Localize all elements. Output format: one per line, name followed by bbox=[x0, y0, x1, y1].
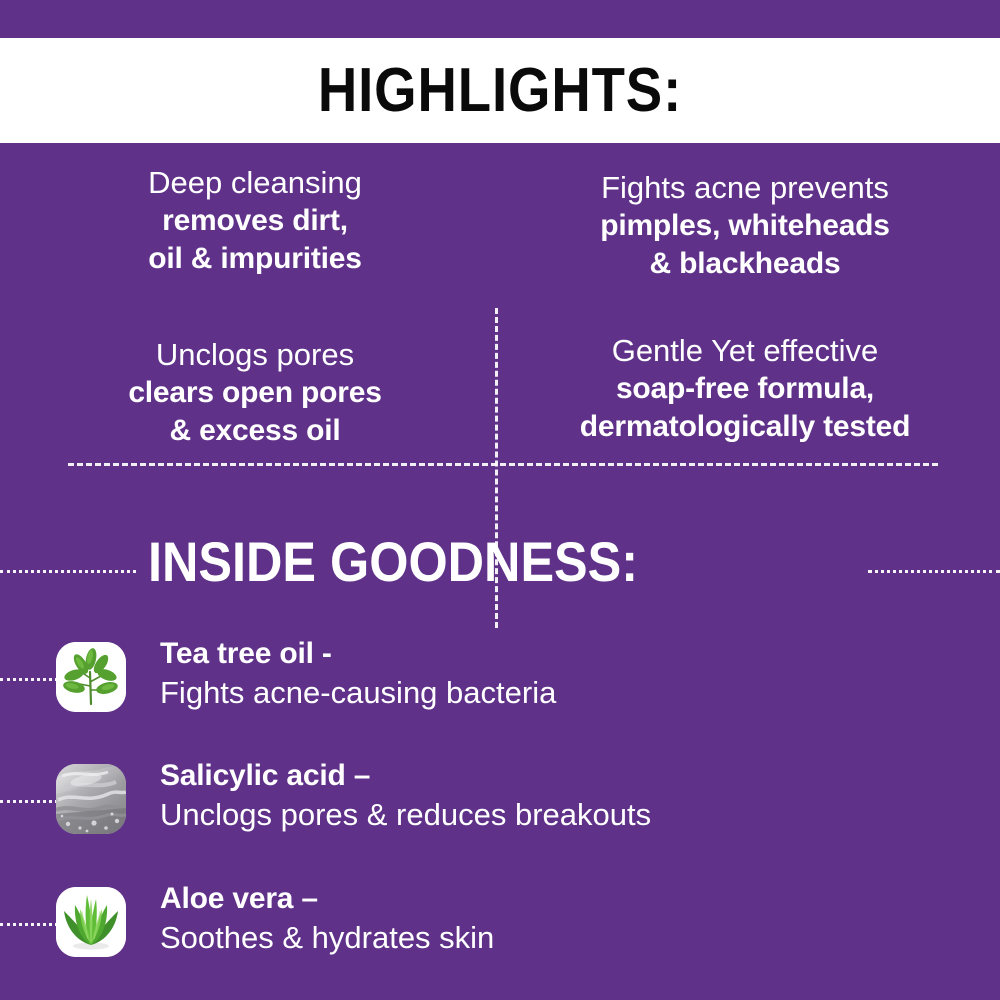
highlight-bold-text-1: soap-free formula, bbox=[510, 370, 980, 408]
top-purple-strip bbox=[0, 0, 1000, 38]
highlight-bold-text-1: pimples, whiteheads bbox=[510, 207, 980, 245]
ingredient-name: Tea tree oil - bbox=[160, 636, 556, 672]
dotted-connector bbox=[0, 923, 58, 926]
ingredient-text: Tea tree oil - Fights acne-causing bacte… bbox=[160, 636, 556, 711]
highlight-light-text: Fights acne prevents bbox=[510, 168, 980, 207]
ingredient-description: Unclogs pores & reduces breakouts bbox=[160, 796, 651, 833]
highlight-bold-text-1: clears open pores bbox=[20, 374, 490, 412]
highlight-light-text: Unclogs pores bbox=[20, 335, 490, 374]
dotted-rule-left bbox=[0, 570, 136, 573]
inside-goodness-header: INSIDE GOODNESS: bbox=[0, 530, 1000, 610]
page-title: HIGHLIGHTS: bbox=[318, 60, 682, 122]
highlight-cell-gentle-effective: Gentle Yet effective soap-free formula, … bbox=[510, 331, 980, 447]
highlight-light-text: Deep cleansing bbox=[20, 163, 490, 202]
horizontal-dashed-divider bbox=[68, 463, 938, 466]
tea-tree-leaf-icon bbox=[56, 642, 126, 712]
list-item: Aloe vera – Soothes & hydrates skin bbox=[0, 881, 1000, 991]
highlight-bold-text-2: & excess oil bbox=[20, 412, 490, 450]
list-item: Tea tree oil - Fights acne-causing bacte… bbox=[0, 636, 1000, 746]
ingredient-description: Fights acne-causing bacteria bbox=[160, 674, 556, 711]
highlight-cell-fights-acne: Fights acne prevents pimples, whiteheads… bbox=[510, 168, 980, 284]
section-title: INSIDE GOODNESS: bbox=[148, 530, 638, 594]
ingredient-name: Salicylic acid – bbox=[160, 758, 651, 794]
aloe-vera-plant-icon bbox=[56, 887, 126, 957]
highlight-bold-text-2: & blackheads bbox=[510, 245, 980, 283]
gel-texture-icon bbox=[56, 764, 126, 834]
highlight-cell-deep-cleansing: Deep cleansing removes dirt, oil & impur… bbox=[20, 163, 490, 279]
highlight-cell-unclogs-pores: Unclogs pores clears open pores & excess… bbox=[20, 335, 490, 451]
dotted-rule-right bbox=[868, 570, 1000, 573]
highlight-bold-text-2: oil & impurities bbox=[20, 240, 490, 278]
highlight-bold-text-1: removes dirt, bbox=[20, 202, 490, 240]
ingredient-text: Aloe vera – Soothes & hydrates skin bbox=[160, 881, 494, 956]
highlights-grid: Deep cleansing removes dirt, oil & impur… bbox=[0, 143, 1000, 503]
highlight-light-text: Gentle Yet effective bbox=[510, 331, 980, 370]
highlight-bold-text-2: dermatologically tested bbox=[510, 408, 980, 446]
ingredient-text: Salicylic acid – Unclogs pores & reduces… bbox=[160, 758, 651, 833]
header-band: HIGHLIGHTS: bbox=[0, 38, 1000, 143]
ingredient-name: Aloe vera – bbox=[160, 881, 494, 917]
dotted-connector bbox=[0, 678, 58, 681]
ingredient-description: Soothes & hydrates skin bbox=[160, 919, 494, 956]
list-item: Salicylic acid – Unclogs pores & reduces… bbox=[0, 758, 1000, 868]
dotted-connector bbox=[0, 800, 58, 803]
